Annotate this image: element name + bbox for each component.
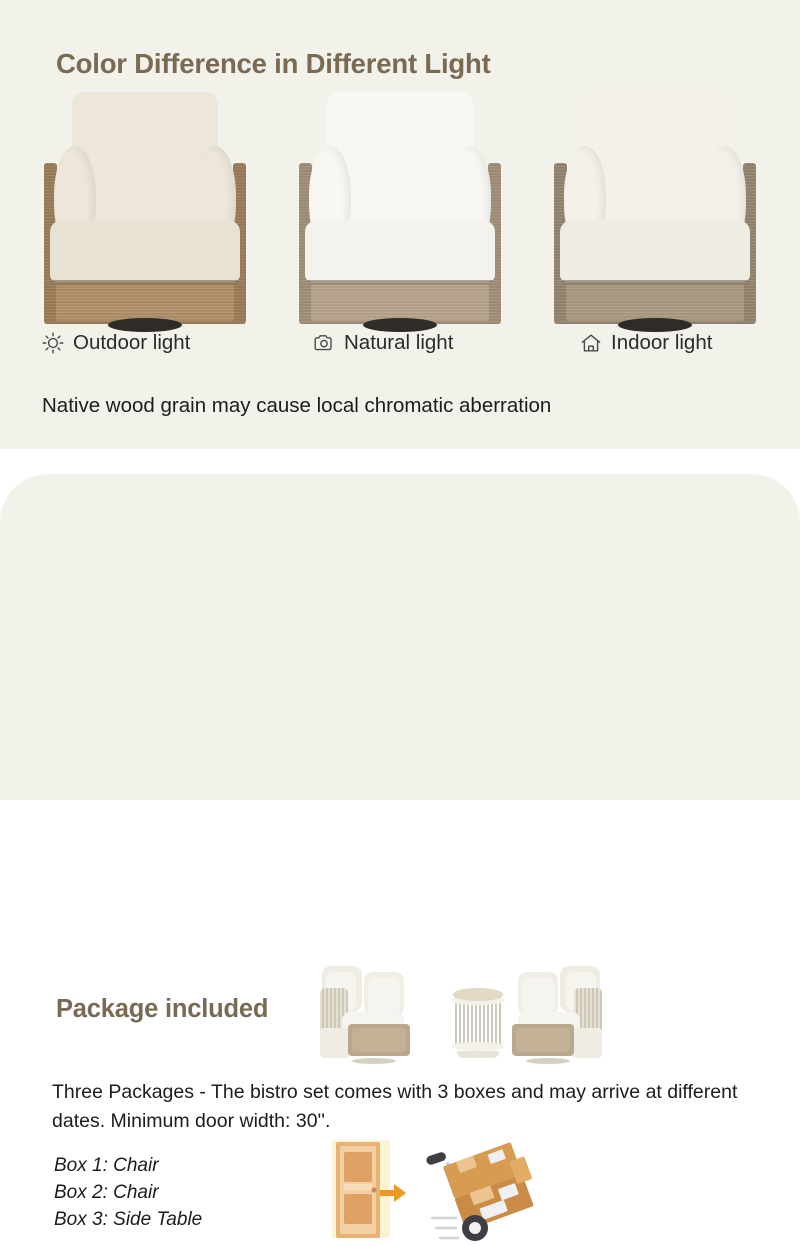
open-door-icon: [332, 1140, 406, 1238]
package-chair-left: [318, 962, 426, 1062]
light-label-text: Indoor light: [611, 331, 712, 355]
sun-icon: [40, 330, 66, 356]
light-condition-labels: Outdoor light Natural light: [0, 330, 800, 372]
page-title: Color Difference in Different Light: [56, 48, 491, 80]
package-included-card: Package included: [0, 474, 800, 800]
package-description: Three Packages - The bistro set comes wi…: [52, 1078, 758, 1136]
hand-truck-boxes-icon: [425, 1139, 541, 1241]
bistro-set-illustration: [316, 958, 606, 1062]
box-contents-list: Box 1: Chair Box 2: Chair Box 3: Side Ta…: [54, 1152, 202, 1233]
chair-seat-cushion: [50, 220, 240, 282]
light-label-text: Outdoor light: [73, 331, 190, 355]
light-label-indoor: Indoor light: [578, 330, 712, 356]
light-label-text: Natural light: [344, 331, 453, 355]
home-icon: [578, 330, 604, 356]
color-difference-card: Color Difference in Different Light: [0, 0, 800, 449]
list-item: Box 1: Chair: [54, 1152, 202, 1179]
package-section-title: Package included: [56, 995, 268, 1024]
camera-icon: [311, 330, 337, 356]
chromatic-aberration-caption: Native wood grain may cause local chroma…: [42, 394, 551, 418]
package-chair-right: [496, 962, 604, 1062]
chair-figure-outdoor: [26, 84, 264, 329]
chair-figure-natural: [281, 84, 519, 329]
delivery-illustration: [322, 1136, 544, 1242]
chair-seat-cushion: [560, 220, 750, 282]
chair-seat-cushion: [305, 220, 495, 282]
light-label-natural: Natural light: [311, 330, 453, 356]
list-item: Box 3: Side Table: [54, 1206, 202, 1233]
chair-figure-indoor: [536, 84, 774, 329]
product-info-page: Color Difference in Different Light: [0, 0, 800, 800]
chair-comparison-row: [0, 84, 800, 329]
list-item: Box 2: Chair: [54, 1179, 202, 1206]
light-label-outdoor: Outdoor light: [40, 330, 190, 356]
